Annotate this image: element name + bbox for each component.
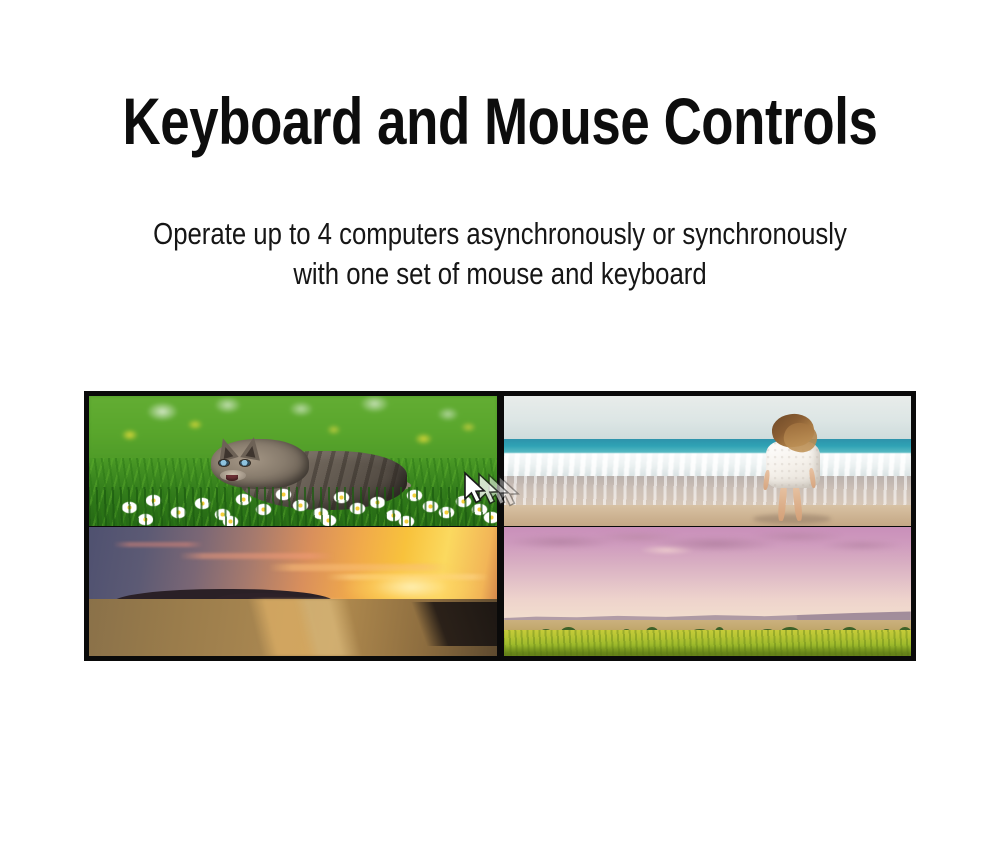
- monitor-pane-bottom-right[interactable]: [504, 527, 912, 657]
- kitten-eye-left: [219, 460, 229, 466]
- grass-blades: [89, 487, 497, 526]
- beach-sky: [504, 396, 912, 439]
- page-subtitle: Operate up to 4 computers asynchronously…: [85, 214, 915, 294]
- promo-page: Keyboard and Mouse Controls Operate up t…: [0, 0, 1000, 847]
- beach-wet-sand: [504, 476, 912, 507]
- savanna-clouds: [504, 529, 912, 563]
- page-title: Keyboard and Mouse Controls: [100, 88, 900, 154]
- monitor-pane-top-right[interactable]: [504, 396, 912, 526]
- sunset-rocks: [374, 602, 496, 646]
- kitten-eye-right: [240, 460, 250, 466]
- kitten-ear-left: [213, 436, 238, 463]
- page-subtitle-line-1: Operate up to 4 computers asynchronously…: [85, 214, 915, 254]
- sunset-tidal-channel: [203, 599, 399, 656]
- woman-figure: [748, 414, 830, 525]
- monitor-grid: [84, 391, 916, 661]
- beach-surf: [504, 453, 912, 479]
- woman-shadow: [753, 514, 831, 524]
- monitor-pane-bottom-left[interactable]: [89, 527, 497, 657]
- beach-dry-sand: [504, 505, 912, 526]
- page-subtitle-line-2: with one set of mouse and keyboard: [85, 254, 915, 294]
- kitten-ear-right: [241, 435, 265, 460]
- savanna-field-foreground: [504, 647, 912, 656]
- monitor-pane-top-left[interactable]: [89, 396, 497, 526]
